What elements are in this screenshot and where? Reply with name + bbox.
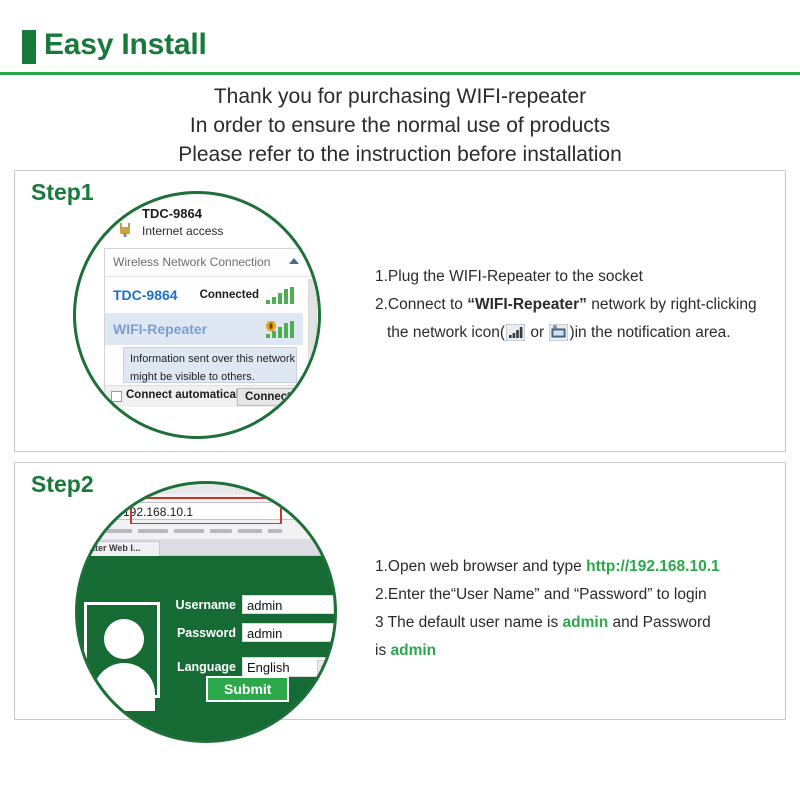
step1-illustration: TDC-9864 Internet access Wireless Networ… [73, 191, 321, 439]
line4-part-a: is [375, 642, 391, 659]
username-row: Username admin [174, 594, 334, 618]
step1-section: Step1 TDC-9864 Internet access Wireless … [14, 170, 786, 452]
step2-illustration: 192.168.10.1 eater Web I... [75, 481, 337, 743]
scrollbar-thumb[interactable] [309, 280, 316, 356]
username-label: Username [174, 598, 236, 612]
connect-automatically-checkbox[interactable] [111, 391, 122, 402]
language-label: Language [174, 660, 236, 674]
step2-instruction-line-4: is admin [375, 637, 785, 665]
intro-line-2: In order to ensure the normal use of pro… [0, 111, 800, 140]
avatar-body [93, 663, 155, 711]
line3-part-c: and Password [608, 614, 711, 631]
panel-header: Wireless Network Connection [105, 249, 319, 277]
line3-part-b: )in the notification area. [569, 324, 730, 341]
username-input[interactable]: admin [242, 595, 334, 614]
signal-bars-icon [506, 323, 525, 340]
line2-part-c: network by right-clicking [587, 296, 757, 313]
panel-footer: Connect automatically Connect [105, 385, 303, 407]
page-title: Easy Install [44, 24, 207, 66]
step2-section: Step2 192.168.10.1 [14, 462, 786, 720]
intro-line-1: Thank you for purchasing WIFI-repeater [0, 82, 800, 111]
line3-or: or [526, 324, 548, 341]
step2-instructions: 1.Open web browser and type http://192.1… [375, 553, 785, 665]
network-monitor-icon [549, 323, 568, 340]
panel-scrollbar[interactable] [308, 279, 317, 383]
step1-instruction-line-3: the network icon( or )in the notificatio… [375, 319, 775, 347]
avatar-head [104, 619, 144, 659]
address-highlight-box [130, 497, 282, 525]
router-url: http://192.168.10.1 [586, 558, 720, 575]
wireless-network-panel: Wireless Network Connection TDC-9864 Con… [104, 248, 320, 400]
panel-header-label: Wireless Network Connection [113, 255, 270, 269]
note-line-2: might be visible to others. [124, 366, 296, 384]
toolbar-item[interactable] [238, 529, 262, 533]
step1-instruction-line-1: 1.Plug the WIFI-Repeater to the socket [375, 263, 775, 291]
chevron-down-icon[interactable] [317, 660, 331, 674]
header-accent-bar [22, 30, 36, 64]
toolbar-item[interactable] [210, 529, 232, 533]
toolbar-item[interactable] [174, 529, 204, 533]
titlebar-placeholder-text [108, 488, 142, 491]
tooltip-status: Internet access [142, 224, 223, 238]
signal-bars-icon [265, 287, 295, 305]
line1-part-a: 1.Open web browser and type [375, 558, 586, 575]
line3-part-a: the network icon( [387, 324, 505, 341]
network-ssid: TDC-9864 [113, 287, 178, 303]
network-ssid: WIFI-Repeater [113, 321, 207, 337]
browser-chrome: 192.168.10.1 eater Web I... [78, 484, 337, 556]
line2-part-a: 2.Connect to [375, 296, 467, 313]
submit-button[interactable]: Submit [206, 676, 289, 702]
toolbar-item[interactable] [268, 529, 282, 533]
browser-tab[interactable]: eater Web I... [80, 541, 160, 556]
browser-tabstrip: eater Web I... [78, 539, 337, 556]
step1-instruction-line-2: 2.Connect to “WIFI-Repeater” network by … [375, 291, 775, 319]
default-password: admin [391, 642, 437, 659]
page-favicon [90, 505, 102, 517]
toolbar-item[interactable] [138, 529, 168, 533]
page-header: Easy Install [0, 24, 800, 72]
password-input[interactable]: admin [242, 623, 334, 642]
line2-network-name: “WIFI-Repeater” [467, 296, 587, 313]
user-avatar-icon [84, 602, 160, 698]
step2-instruction-line-2: 2.Enter the“User Name” and “Password” to… [375, 581, 785, 609]
password-value: admin [247, 626, 282, 641]
note-line-1: Information sent over this network [124, 348, 296, 366]
password-label: Password [174, 626, 236, 640]
connect-button[interactable]: Connect [237, 388, 299, 406]
globe-icon [111, 507, 120, 516]
network-row-repeater[interactable]: WIFI-Repeater [105, 313, 303, 345]
signal-bars-warning-icon [265, 321, 295, 339]
line3-part-a: 3 The default user name is [375, 614, 563, 631]
plug-icon [116, 220, 134, 238]
network-security-note: Information sent over this network might… [123, 347, 297, 383]
easy-install-page: Easy Install Thank you for purchasing WI… [0, 0, 800, 800]
network-row-tdc[interactable]: TDC-9864 Connected [105, 279, 303, 311]
browser-tab-title: eater Web I... [85, 543, 140, 553]
intro-line-3: Please refer to the instruction before i… [0, 140, 800, 169]
step2-instruction-line-3: 3 The default user name is admin and Pas… [375, 609, 785, 637]
toolbar-item[interactable] [84, 529, 100, 533]
step2-instruction-line-1: 1.Open web browser and type http://192.1… [375, 553, 785, 581]
language-value: English [247, 660, 290, 675]
default-username: admin [563, 614, 609, 631]
tooltip-ssid: TDC-9864 [142, 206, 202, 221]
chevron-up-icon[interactable] [289, 258, 299, 264]
header-divider [0, 72, 800, 75]
network-status: Connected [200, 289, 259, 301]
step1-instructions: 1.Plug the WIFI-Repeater to the socket 2… [375, 263, 775, 347]
intro-paragraph: Thank you for purchasing WIFI-repeater I… [0, 82, 800, 169]
toolbar-item[interactable] [106, 529, 132, 533]
connect-automatically-label: Connect automatically [126, 389, 249, 401]
username-value: admin [247, 598, 282, 613]
login-form: Username admin Password admin Language E… [174, 594, 334, 684]
language-select[interactable]: English [242, 657, 334, 677]
browser-toolbar [78, 524, 337, 538]
password-row: Password admin [174, 622, 334, 646]
